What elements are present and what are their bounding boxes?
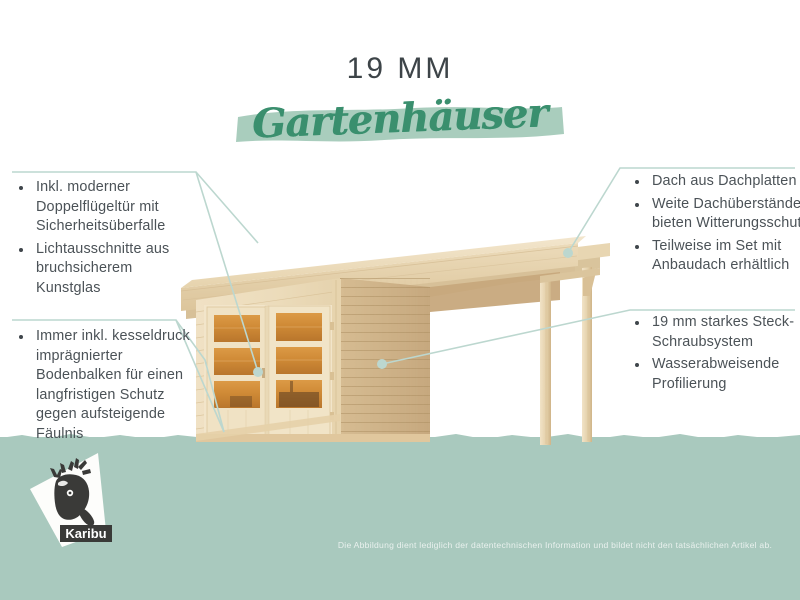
list-item: Weite Dachüberstände bieten Witterungssc… bbox=[630, 195, 800, 234]
double-glass-door bbox=[204, 305, 334, 437]
callout-wall-system: 19 mm starkes Steck-Schraubsystem Wasser… bbox=[630, 313, 800, 397]
thickness-title: 19 MM bbox=[0, 52, 800, 86]
disclaimer-text: Die Abbildung dient lediglich der datent… bbox=[320, 540, 790, 550]
list-item: Immer inkl. kesseldruck imprägnierter Bo… bbox=[14, 327, 200, 444]
callout-list: Inkl. moderner Doppelflügeltür mit Siche… bbox=[14, 178, 200, 298]
canopy-post-front bbox=[540, 277, 551, 445]
list-item: Inkl. moderner Doppelflügeltür mit Siche… bbox=[14, 178, 200, 237]
door-center-stile bbox=[265, 306, 269, 435]
list-item: Teilweise im Set mit Anbaudach erhältlic… bbox=[630, 237, 800, 276]
callout-door-and-glass: Inkl. moderner Doppelflügeltür mit Siche… bbox=[14, 178, 200, 301]
product-title-group: Gartenhäuser bbox=[0, 95, 800, 155]
door-hinge bbox=[330, 322, 334, 330]
list-item: 19 mm starkes Steck-Schraubsystem bbox=[630, 313, 800, 352]
callout-roof: Dach aus Dachplatten Weite Dachüberständ… bbox=[630, 172, 800, 279]
callout-list: Dach aus Dachplatten Weite Dachüberständ… bbox=[630, 172, 800, 276]
list-item: Wasserabweisende Profilierung bbox=[630, 355, 800, 394]
infographic-canvas: 19 MM Gartenhäuser Inkl. moderner Doppel… bbox=[0, 0, 800, 600]
callout-list: 19 mm starkes Steck-Schraubsystem Wasser… bbox=[630, 313, 800, 394]
callout-floor-beam: Immer inkl. kesseldruck imprägnierter Bo… bbox=[14, 327, 200, 447]
callout-list: Immer inkl. kesseldruck imprägnierter Bo… bbox=[14, 327, 200, 444]
door-hinge bbox=[330, 372, 334, 380]
door-handle bbox=[262, 368, 265, 378]
list-item: Dach aus Dachplatten bbox=[630, 172, 800, 192]
karibu-logo: Karibu bbox=[26, 447, 122, 551]
logo-brand-name: Karibu bbox=[65, 526, 106, 541]
list-item: Lichtausschnitte aus bruchsicherem Kunst… bbox=[14, 240, 200, 299]
